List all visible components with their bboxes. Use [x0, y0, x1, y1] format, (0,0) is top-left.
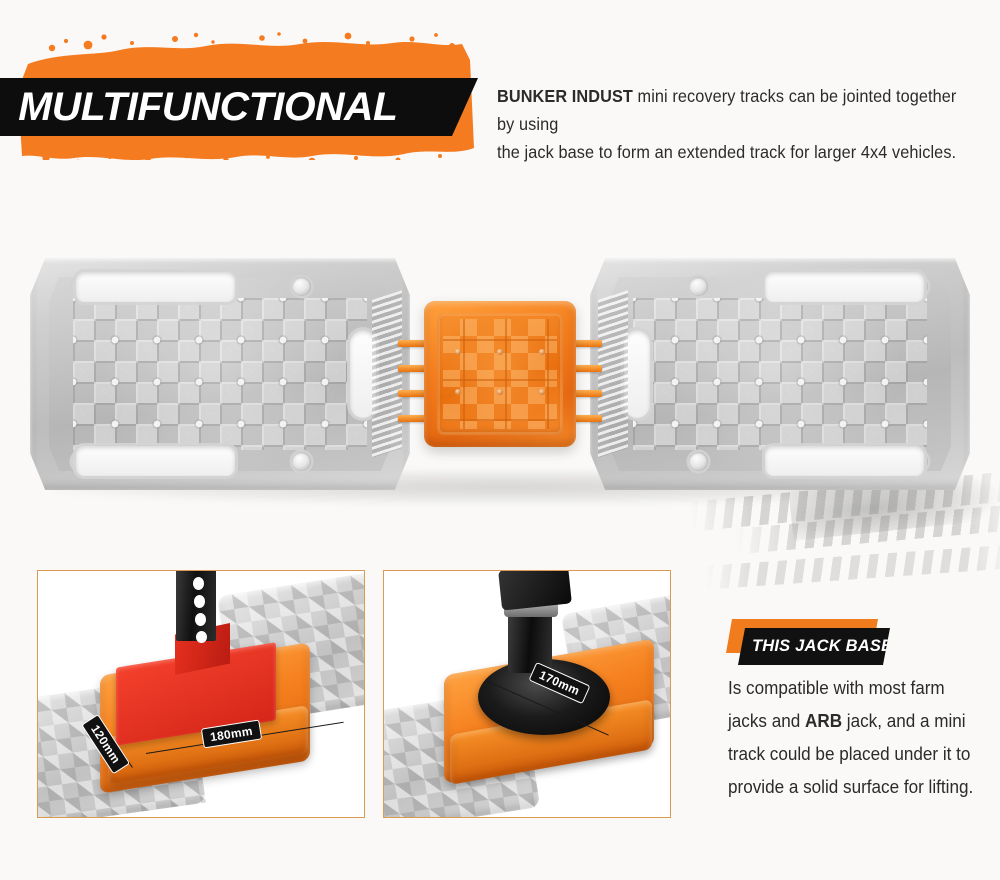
brand-name: BUNKER INDUST [497, 86, 633, 106]
header-description: BUNKER INDUST mini recovery tracks can b… [497, 82, 957, 166]
feature-description: Is compatible with most farm jacks and A… [728, 672, 981, 804]
jack-base-connector-bar [572, 390, 602, 397]
track-bolt-hole [292, 277, 311, 296]
page-title: MULTIFUNCTIONAL [18, 85, 397, 130]
arb-brand-name: ARB [805, 711, 842, 731]
mini-recovery-track-left [30, 258, 410, 490]
jack-base-plate [437, 313, 563, 435]
badge-black-plate: THIS JACK BASE [738, 628, 890, 665]
badge-label: THIS JACK BASE [752, 637, 892, 656]
feature-line-1: Is compatible with most farm [728, 678, 945, 698]
track-handle-slot [765, 446, 925, 476]
jack-post-hole [194, 595, 205, 608]
jack-base-rib-grid [443, 319, 557, 429]
track-inner-surface [49, 277, 391, 472]
jack-base-rivet [455, 349, 461, 355]
header-description-line2: the jack base to form an extended track … [497, 142, 956, 162]
track-handle-slot [76, 446, 236, 476]
feature-line-2-pre: jacks and [728, 711, 805, 731]
track-comb-teeth [598, 290, 628, 457]
jack-post-hole [195, 613, 206, 626]
jack-base-rivet [539, 389, 545, 395]
track-grip-slot [624, 330, 650, 418]
jack-base-rivet [497, 349, 503, 355]
arb-jack-on-base-photo: 170mm [383, 570, 671, 818]
track-bolt-hole [689, 277, 708, 296]
jack-base-rivet [497, 389, 503, 395]
farm-jack-on-base-photo: 120mm 180mm [37, 570, 365, 818]
track-comb-teeth [372, 290, 402, 457]
track-body [30, 258, 410, 490]
tire-track-texture-3 [705, 544, 1000, 590]
section-title-banner: MULTIFUNCTIONAL [0, 78, 478, 136]
track-handle-slot [76, 272, 236, 302]
mini-recovery-track-right [590, 258, 970, 490]
track-inner-surface [609, 277, 951, 472]
arb-jack-head [498, 570, 572, 611]
product-infographic-page: MULTIFUNCTIONAL BUNKER INDUST mini recov… [0, 0, 1000, 880]
jack-base-connector-bar [572, 415, 602, 422]
feature-line-3: track could be placed under it to [728, 744, 970, 764]
track-handle-slot [765, 272, 925, 302]
arb-jack-shaft [508, 611, 552, 673]
jack-base-connector-bar [572, 365, 602, 372]
orange-jack-base [424, 301, 576, 447]
track-studs [73, 298, 367, 450]
jack-base-rivet [539, 349, 545, 355]
track-studs [633, 298, 927, 450]
jack-post-hole [196, 631, 207, 643]
feature-line-4: provide a solid surface for lifting. [728, 777, 973, 797]
jack-base-rivet [455, 389, 461, 395]
feature-badge: THIS JACK BASE [726, 619, 906, 665]
feature-line-2-post: jack, and a mini [842, 711, 966, 731]
jack-post-hole [193, 577, 204, 590]
jack-base-connector-bar [572, 340, 602, 347]
track-body [590, 258, 970, 490]
